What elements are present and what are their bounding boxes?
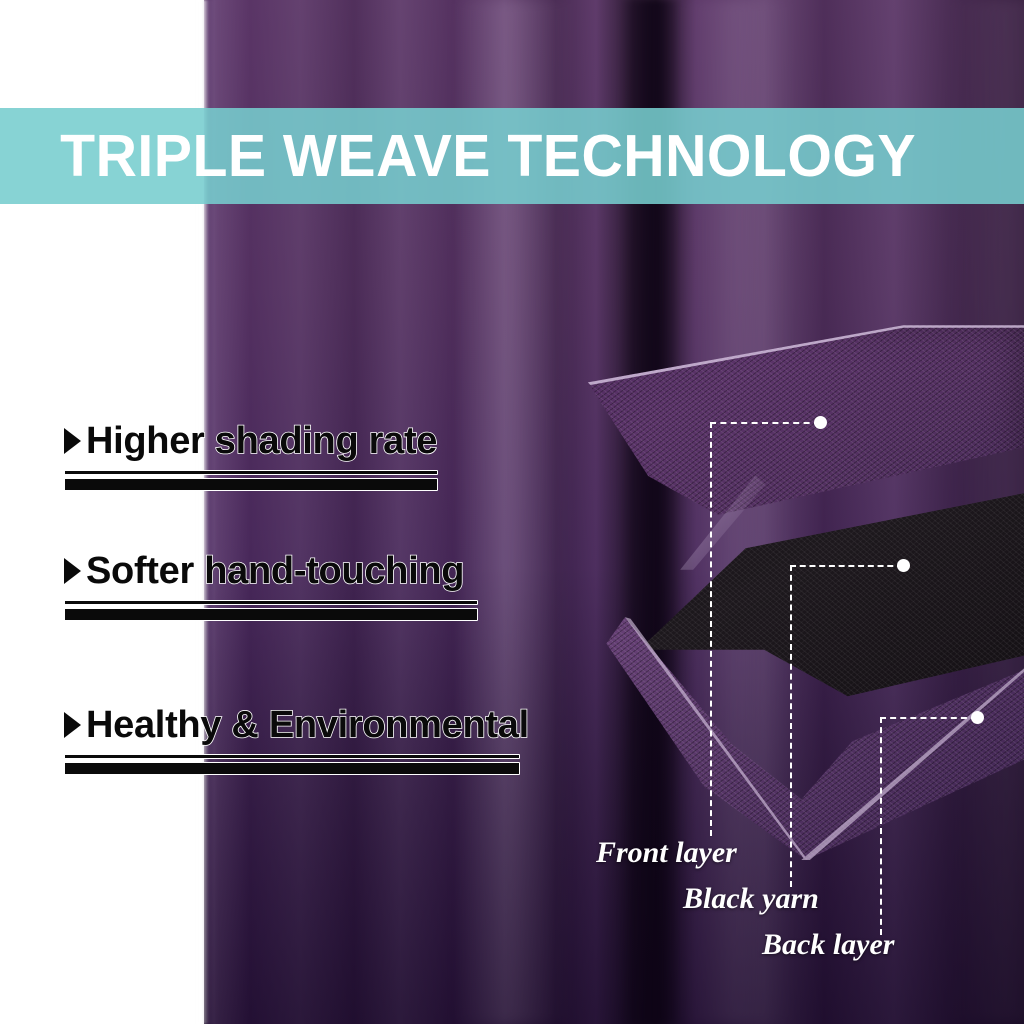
underline-thin-bar [64, 470, 438, 475]
front-layer-callout-dot [814, 416, 827, 429]
fabric-layer-diagram [560, 320, 1024, 860]
feature-label: Healthy & Environmental [86, 706, 529, 745]
feature-item-softer-hand-touching: Softer hand-touching [64, 552, 624, 621]
feature-item-healthy-environmental: Healthy & Environmental [64, 706, 624, 775]
triangle-right-icon [64, 428, 81, 454]
black-yarn-label: Black yarn [683, 882, 819, 916]
back-layer-callout-dot [971, 711, 984, 724]
underline-thick-bar [64, 608, 478, 621]
feature-underline [64, 754, 624, 775]
back-layer-leader-horizontal [880, 717, 977, 719]
underline-thin-bar [64, 754, 520, 759]
feature-label: Softer hand-touching [86, 552, 464, 591]
triangle-right-icon [64, 712, 81, 738]
black-yarn-leader-vertical [790, 565, 792, 887]
headline-banner: TRIPLE WEAVE TECHNOLOGY [0, 108, 1024, 204]
feature-item-higher-shading-rate: Higher shading rate [64, 422, 624, 491]
underline-thick-bar [64, 762, 520, 775]
underline-thin-bar [64, 600, 478, 605]
feature-underline [64, 600, 624, 621]
front-layer-leader-horizontal [710, 422, 820, 424]
triangle-right-icon [64, 558, 81, 584]
feature-underline [64, 470, 624, 491]
product-infographic: TRIPLE WEAVE TECHNOLOGY Higher shading r… [0, 0, 1024, 1024]
back-layer-leader-vertical [880, 717, 882, 935]
front-layer-leader-vertical [710, 422, 712, 836]
black-yarn-callout-dot [897, 559, 910, 572]
front-layer-label: Front layer [596, 836, 737, 870]
feature-label: Higher shading rate [86, 422, 437, 461]
back-layer-label: Back layer [762, 928, 894, 962]
banner-title: TRIPLE WEAVE TECHNOLOGY [0, 127, 916, 186]
underline-thick-bar [64, 478, 438, 491]
black-yarn-leader-horizontal [790, 565, 903, 567]
